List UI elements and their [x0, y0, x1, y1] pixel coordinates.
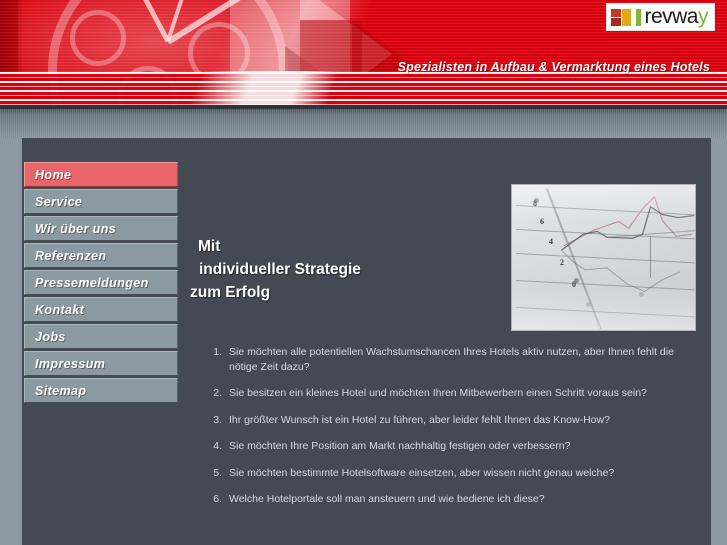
- sidebar-item-label: Pressemeldungen: [35, 276, 149, 290]
- header-tagline: Spezialisten in Aufbau & Vermarktung ein…: [398, 60, 710, 74]
- sidebar-item-kontakt[interactable]: Kontakt: [24, 297, 178, 322]
- list-item-text: Sie möchten Ihre Position am Markt nachh…: [229, 439, 695, 454]
- list-item: 3. Ihr größter Wunsch ist ein Hotel zu f…: [210, 413, 695, 428]
- list-item-text: Ihr größter Wunsch ist ein Hotel zu führ…: [229, 413, 695, 428]
- list-item-number: 3.: [210, 413, 229, 428]
- header-stripe-highlight: [150, 71, 400, 105]
- sidebar-item-referenzen[interactable]: Referenzen: [24, 243, 178, 268]
- sidebar-item-pressemeldungen[interactable]: Pressemeldungen: [24, 270, 178, 295]
- list-item: 6. Welche Hotelportale soll man ansteuer…: [210, 492, 695, 507]
- sidebar-item-label: Referenzen: [35, 249, 106, 263]
- logo-wordmark-accent: y: [698, 5, 708, 28]
- page-right-margin: [711, 138, 727, 545]
- logo-wordmark: revway: [644, 7, 708, 27]
- chart-photo: 8 6 4 2 0: [511, 184, 696, 331]
- page-left-margin: [0, 138, 22, 545]
- sidebar-item-wir-ueber-uns[interactable]: Wir über uns: [24, 216, 178, 241]
- logo-green-bar-icon: [636, 9, 641, 26]
- sidebar-item-label: Jobs: [35, 330, 66, 344]
- page-root: Spezialisten in Aufbau & Vermarktung ein…: [0, 0, 727, 545]
- photo-blur-overlay: [512, 185, 695, 330]
- list-item-number: 1.: [210, 345, 229, 374]
- list-item-text: Sie möchten alle potentiellen Wachstumsc…: [229, 345, 695, 374]
- list-item-number: 4.: [210, 439, 229, 454]
- list-item: 4. Sie möchten Ihre Position am Markt na…: [210, 439, 695, 454]
- list-item: 2. Sie besitzen ein kleines Hotel und mö…: [210, 386, 695, 401]
- list-item-text: Welche Hotelportale soll man ansteuern u…: [229, 492, 695, 507]
- sidebar-item-label: Home: [35, 168, 71, 182]
- list-item: 1. Sie möchten alle potentiellen Wachstu…: [210, 345, 695, 374]
- site-header: Spezialisten in Aufbau & Vermarktung ein…: [0, 0, 727, 117]
- sidebar-item-label: Kontakt: [35, 303, 84, 317]
- list-item-number: 5.: [210, 466, 229, 481]
- sidebar-item-label: Service: [35, 195, 82, 209]
- sidebar-item-label: Impressum: [35, 357, 105, 371]
- headline-line-2: individueller Strategie: [190, 258, 361, 281]
- sidebar-item-service[interactable]: Service: [24, 189, 178, 214]
- logo-squares-icon: [611, 9, 633, 26]
- list-item-text: Sie möchten bestimmte Hotelsoftware eins…: [229, 466, 695, 481]
- list-item-number: 2.: [210, 386, 229, 401]
- sidebar-item-home[interactable]: Home: [24, 162, 178, 187]
- revway-logo[interactable]: revway: [606, 3, 715, 31]
- sidebar-item-jobs[interactable]: Jobs: [24, 324, 178, 349]
- sidebar-item-impressum[interactable]: Impressum: [24, 351, 178, 376]
- list-item-number: 6.: [210, 492, 229, 507]
- list-item-text: Sie besitzen ein kleines Hotel und möcht…: [229, 386, 695, 401]
- sidebar-item-label: Sitemap: [35, 384, 86, 398]
- header-grey-band: [0, 109, 727, 138]
- headline-line-1: Mit: [190, 235, 361, 258]
- headline-line-3: zum Erfolg: [190, 281, 361, 304]
- page-headline: Mit individueller Strategie zum Erfolg: [190, 235, 361, 304]
- list-item: 5. Sie möchten bestimmte Hotelsoftware e…: [210, 466, 695, 481]
- sidebar-item-sitemap[interactable]: Sitemap: [24, 378, 178, 403]
- sidebar-item-label: Wir über uns: [35, 222, 116, 236]
- logo-wordmark-main: revwa: [644, 5, 698, 28]
- main-navigation: Home Service Wir über uns Referenzen Pre…: [24, 162, 178, 405]
- question-list: 1. Sie möchten alle potentiellen Wachstu…: [210, 345, 695, 519]
